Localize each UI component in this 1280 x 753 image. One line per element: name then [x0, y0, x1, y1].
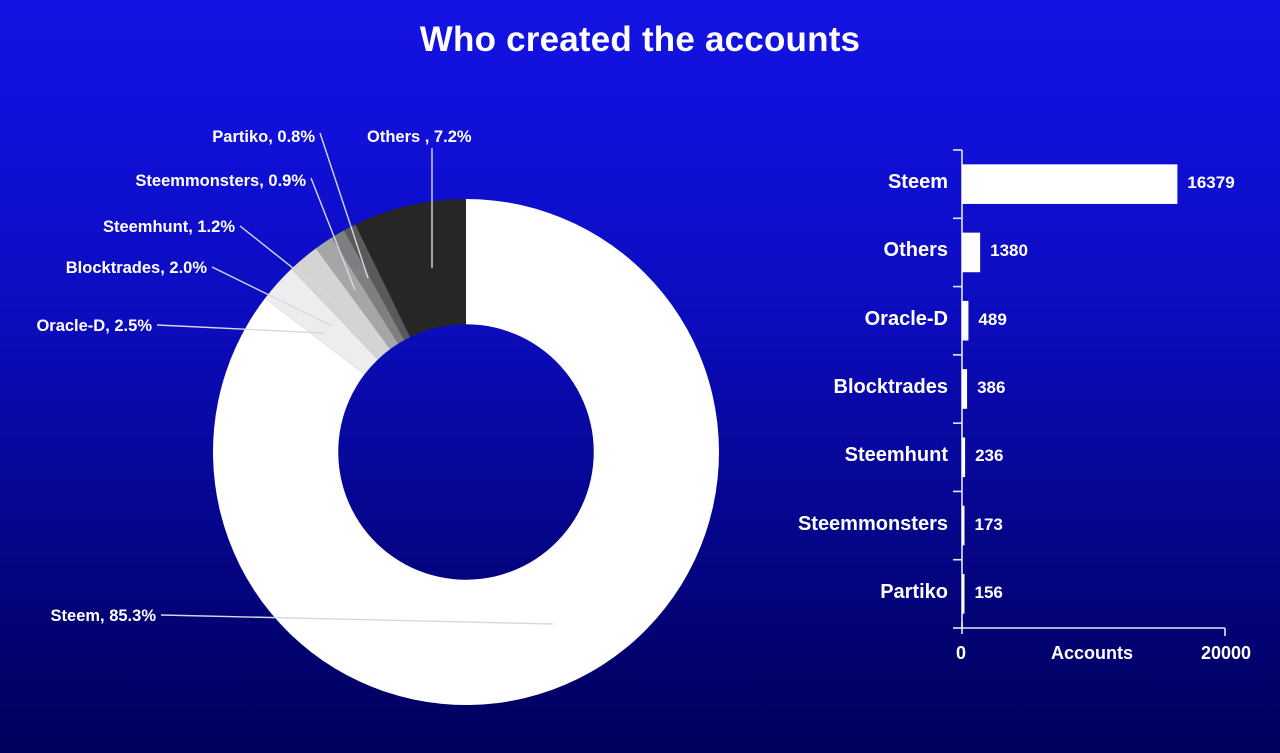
- pie-label-oracle-d: Oracle-D, 2.5%: [0, 317, 152, 336]
- doughnut-chart: Partiko, 0.8% Steemmonsters, 0.9% Steemh…: [0, 0, 760, 753]
- bar-steem: [962, 164, 1177, 204]
- pie-label-others: Others , 7.2%: [367, 128, 472, 147]
- bar-steemmonsters: [962, 506, 965, 546]
- bar-category-label-steem: Steem: [888, 171, 948, 194]
- bar-steemhunt: [962, 437, 965, 477]
- bar-partiko: [962, 574, 965, 614]
- bar-category-label-steemmonsters: Steemmonsters: [798, 513, 948, 536]
- bar-blocktrades: [962, 369, 967, 409]
- xaxis-title: Accounts: [1051, 643, 1133, 664]
- bar-chart: 0 Accounts 20000 Steem16379Others1380Ora…: [760, 0, 1280, 753]
- bar-value-label-blocktrades: 386: [977, 378, 1005, 398]
- bar-value-label-steem: 16379: [1187, 173, 1234, 193]
- bar-category-label-steemhunt: Steemhunt: [845, 444, 948, 467]
- pie-label-steemmonsters: Steemmonsters, 0.9%: [0, 172, 306, 191]
- bar-value-label-steemmonsters: 173: [975, 515, 1003, 535]
- doughnut-chart-svg: [0, 0, 760, 753]
- pie-label-steem: Steem, 85.3%: [0, 607, 156, 626]
- bar-value-label-partiko: 156: [975, 583, 1003, 603]
- pie-label-steemhunt: Steemhunt, 1.2%: [0, 218, 235, 237]
- xtick-label-0: 0: [956, 643, 966, 664]
- bar-value-label-oracle-d: 489: [978, 310, 1006, 330]
- bar-category-label-oracle-d: Oracle-D: [865, 308, 948, 331]
- slide-canvas: Who created the accounts Partiko, 0.8% S…: [0, 0, 1280, 753]
- bar-oracle-d: [962, 301, 968, 341]
- bar-others: [962, 233, 980, 273]
- bar-category-label-others: Others: [884, 239, 948, 262]
- bar-category-label-blocktrades: Blocktrades: [834, 376, 949, 399]
- bar-category-label-partiko: Partiko: [880, 581, 948, 604]
- bar-value-label-steemhunt: 236: [975, 446, 1003, 466]
- pie-label-blocktrades: Blocktrades, 2.0%: [0, 259, 207, 278]
- bar-value-label-others: 1380: [990, 241, 1028, 261]
- pie-label-partiko: Partiko, 0.8%: [40, 128, 315, 147]
- xtick-label-max: 20000: [1201, 643, 1251, 664]
